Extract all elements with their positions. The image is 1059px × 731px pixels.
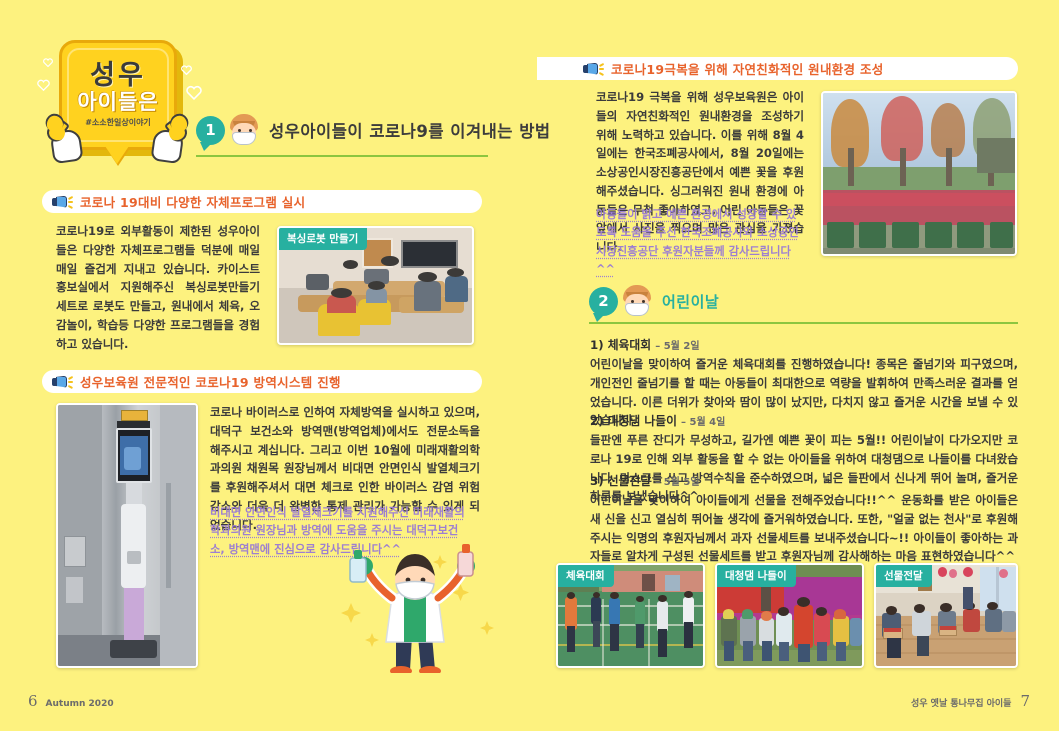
right-top-thanks-text: 아동들이 밝고 예쁜 환경에서 성장할 수 있도록 도움을 주신 한국조폐공사와… [596, 206, 804, 279]
block1-header-bar: 코로나 19대비 다양한 자체프로그램 실시 [42, 190, 482, 213]
section1-title: 성우아이들이 코로나9를 이겨내는 방법 [269, 118, 551, 142]
logo-hashtag: #소소한일상이야기 [85, 117, 151, 128]
heart-decoration-icon [181, 60, 192, 70]
magazine-logo: 성우 아이들은 #소소한일상이야기 [45, 32, 210, 187]
footer-right-label: 성우 옛날 통나무집 아이들 [911, 696, 1011, 709]
footer-left: 6 Autumn 2020 [28, 692, 114, 710]
section2-underline [589, 322, 1018, 324]
logo-line2: 아이들은 [77, 91, 158, 114]
photo-daecheong-dam: 대청댐 나들이 [715, 563, 864, 668]
item2-heading: 2) 대청댐 나들이 [590, 414, 677, 428]
photo-robot-class: 복싱로봇 만들기 [277, 226, 474, 345]
item3-body: 어린이날을 맞이하여 아이들에게 선물을 전해주었습니다!!^^ 운동화를 받은… [590, 491, 1018, 566]
logo-tail [105, 146, 129, 164]
photo-thermal-scanner [56, 403, 198, 668]
kid-with-mask-icon [227, 113, 261, 147]
logo-line1: 성우 [90, 62, 146, 90]
item2-date: – 5월 4일 [681, 417, 725, 428]
item1-heading-row: 1) 체육대회 – 5월 2일 [590, 336, 1018, 353]
section1-underline [196, 155, 488, 157]
right-top-header-bar: 코로나19극복을 위해 자연친화적인 원내환경 조성 [537, 57, 1018, 80]
section2-item-3: 3) 선물전달 – 5월 5일 어린이날을 맞이하여 아이들에게 선물을 전해주… [590, 472, 1018, 566]
item3-date: – 5월 5일 [655, 477, 699, 488]
megaphone-icon [583, 61, 605, 77]
heart-decoration-icon [186, 85, 202, 100]
photo-caption-robot: 복싱로봇 만들기 [279, 228, 367, 250]
block2-header-label: 성우보육원 전문적인 코로나19 방역시스템 진행 [80, 372, 341, 391]
section2-number-badge: 2 [589, 287, 618, 316]
block1-header-label: 코로나 19대비 다양한 자체프로그램 실시 [80, 192, 305, 211]
section2-title: 어린이날 [662, 291, 719, 312]
section2-heading: 2 어린이날 [589, 284, 719, 318]
photo-caption-sports-day: 체육대회 [558, 565, 614, 587]
photo-caption-daecheong-dam: 대청댐 나들이 [717, 565, 796, 587]
photo-caption-gift-delivery: 선물전달 [876, 565, 932, 587]
section1-number-badge: 1 [196, 116, 225, 145]
section1-heading: 1 성우아이들이 코로나9를 이겨내는 방법 [196, 113, 551, 147]
finger-heart-hand-right-icon [146, 118, 186, 166]
footer-left-page-number: 6 [28, 692, 38, 710]
footer-right: 성우 옛날 통나무집 아이들 7 [880, 692, 1030, 710]
kid-with-mask-icon [620, 284, 654, 318]
footer-right-page-number: 7 [1020, 692, 1030, 710]
photo-sports-day: 체육대회 [556, 563, 705, 668]
item3-heading-row: 3) 선물전달 – 5월 5일 [590, 472, 1018, 489]
item1-heading: 1) 체육대회 [590, 338, 651, 352]
megaphone-icon [52, 374, 74, 390]
item2-heading-row: 2) 대청댐 나들이 – 5월 4일 [590, 412, 1018, 429]
megaphone-icon [52, 194, 74, 210]
photo-garden [821, 91, 1017, 256]
item3-heading: 3) 선물전달 [590, 474, 651, 488]
photo-gift-delivery: 선물전달 [874, 563, 1018, 668]
finger-heart-hand-left-icon [48, 118, 88, 166]
heart-decoration-icon [37, 76, 50, 88]
right-top-header-label: 코로나19극복을 위해 자연친화적인 원내환경 조성 [611, 59, 884, 78]
disinfection-illustration [330, 538, 495, 673]
block2-header-bar: 성우보육원 전문적인 코로나19 방역시스템 진행 [42, 370, 482, 393]
magazine-page: 성우 아이들은 #소소한일상이야기 1 [0, 0, 1059, 731]
heart-decoration-icon [43, 52, 53, 61]
footer-left-label: Autumn 2020 [46, 699, 114, 709]
block1-body-text: 코로나19로 외부활동이 제한된 성우아이들은 다양한 자체프로그램들 덕분에 … [56, 222, 260, 353]
item1-date: – 5월 2일 [655, 341, 699, 352]
